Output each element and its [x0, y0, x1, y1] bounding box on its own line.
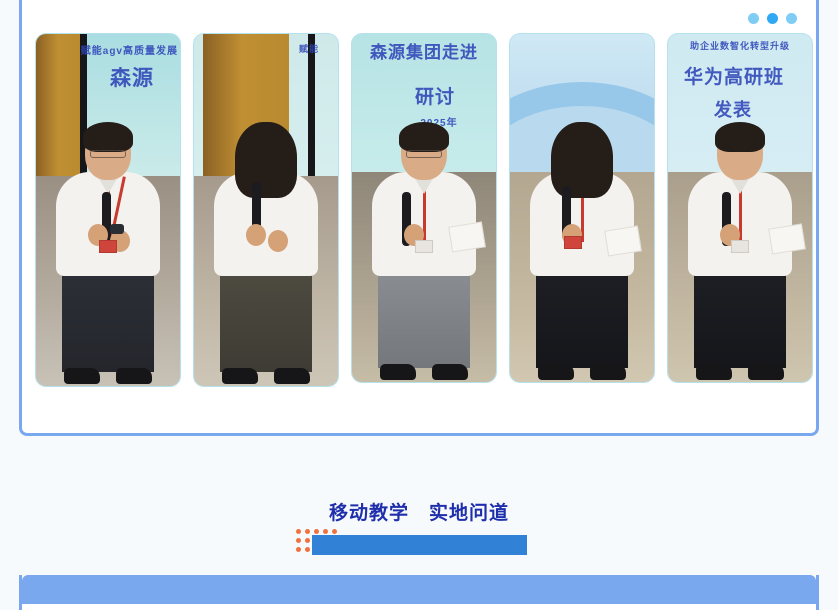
screen-caption-line-2: 华为高研班 [668, 62, 812, 89]
photo-gallery-card: 赋能agv高质量发展 森源 [19, 0, 819, 436]
carousel-dot-3[interactable] [786, 13, 797, 24]
trousers [220, 270, 312, 372]
shoe-left [538, 364, 574, 380]
carousel-dot-1[interactable] [748, 13, 759, 24]
person-figure [194, 120, 338, 386]
hand-right [268, 230, 288, 252]
gallery-photo-2[interactable]: 赋能 [194, 34, 338, 386]
screen-caption-line-2: 研讨 [374, 82, 496, 109]
screen-caption-line-1: 赋能agv高质量发展 [70, 42, 178, 57]
gallery-photo-5[interactable]: 助企业数智化转型升级 华为高研班 发表 深圳 [668, 34, 812, 382]
gallery-photo-4[interactable] [510, 34, 654, 382]
name-badge [564, 236, 582, 249]
speech-paper [448, 222, 486, 253]
accent-bar [312, 535, 527, 555]
screen-caption-line-2: 森源 [80, 62, 180, 92]
person-figure [668, 120, 812, 382]
shoe-right [116, 368, 152, 384]
name-badge [99, 240, 117, 253]
speech-paper [604, 226, 642, 257]
shoe-right [274, 368, 310, 384]
hair [83, 122, 133, 152]
screen-caption-line-1: 赋能 [286, 42, 332, 55]
speech-paper [768, 224, 806, 255]
person-figure [352, 120, 496, 382]
screen-caption-line-3: 发表 [668, 96, 812, 122]
trousers [694, 270, 786, 368]
screen-caption-line-1: 森源集团走进 [352, 38, 496, 63]
gallery-photo-3[interactable]: 森源集团走进 研讨 2025年 [352, 34, 496, 382]
screen-caption-line-1: 助企业数智化转型升级 [668, 39, 812, 52]
carousel-dot-2[interactable] [767, 13, 778, 24]
hand-left [246, 224, 266, 246]
glasses [90, 150, 126, 158]
trousers [62, 270, 154, 372]
card-header-bar [22, 575, 816, 604]
shoe-left [64, 368, 100, 384]
hair [399, 122, 449, 152]
person-figure [36, 120, 180, 386]
hair [715, 122, 765, 152]
trousers [378, 270, 470, 368]
shoe-left [222, 368, 258, 384]
photo-strip: 赋能agv高质量发展 森源 [36, 34, 808, 394]
shoe-right [748, 364, 784, 380]
name-badge [415, 240, 433, 253]
wristwatch [110, 224, 124, 234]
hair [235, 122, 297, 198]
shoe-left [380, 364, 416, 380]
page-root: 赋能agv高质量发展 森源 [0, 0, 838, 610]
section-title: 移动教学 实地问道 [0, 498, 838, 525]
name-badge [731, 240, 749, 253]
next-section-card [19, 575, 819, 610]
trousers [536, 270, 628, 368]
shoe-left [696, 364, 732, 380]
hair [551, 122, 613, 198]
shoe-right [432, 364, 468, 380]
shoe-right [590, 364, 626, 380]
carousel-indicator[interactable] [748, 13, 797, 24]
gallery-photo-1[interactable]: 赋能agv高质量发展 森源 [36, 34, 180, 386]
glasses [406, 150, 442, 158]
person-figure [510, 120, 654, 382]
